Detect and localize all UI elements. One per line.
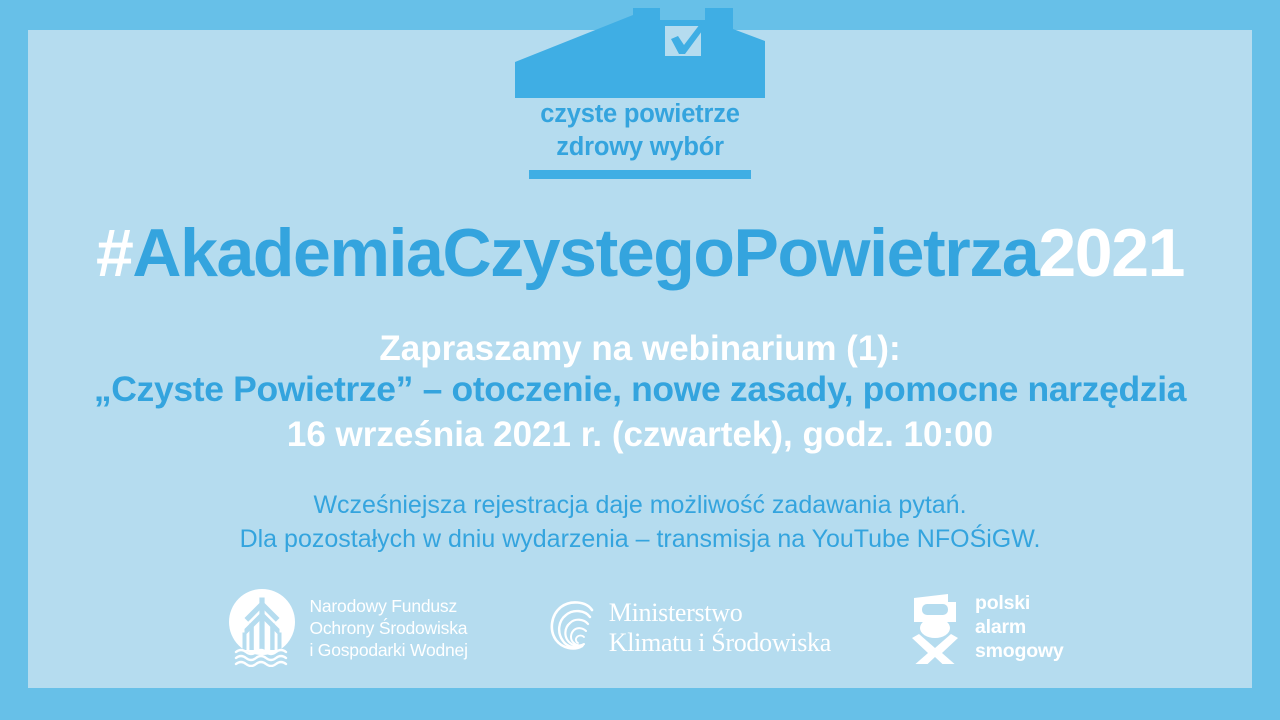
partner-nfosigw-text: Narodowy Fundusz Ochrony Środowiska i Go… (309, 595, 467, 662)
brand-logo-rule (529, 170, 751, 179)
subtitle-line-datetime: 16 września 2021 r. (czwartek), godz. 10… (0, 414, 1280, 455)
poster-canvas: czyste powietrze zdrowy wybór #AkademiaC… (0, 0, 1280, 720)
pas-line-3: smogowy (975, 640, 1064, 664)
partner-logo-ministry: Ministerstwo Klimatu i Środowiska (546, 598, 831, 658)
page-title: #AkademiaCzystegoPowietrza2021 (0, 218, 1280, 289)
subtitle-block: Zapraszamy na webinarium (1): „Czyste Po… (0, 328, 1280, 455)
brand-logo: czyste powietrze zdrowy wybór (0, 0, 1280, 175)
house-with-checkmark-icon (515, 6, 765, 98)
pas-line-2: alarm (975, 616, 1064, 640)
nfosigw-line-3: i Gospodarki Wodnej (309, 639, 467, 661)
headline-year: 2021 (1038, 215, 1184, 291)
note-line-stream: Dla pozostałych w dniu wydarzenia – tran… (0, 522, 1280, 556)
nfosigw-line-2: Ochrony Środowiska (309, 617, 467, 639)
ministry-line-2: Klimatu i Środowiska (609, 628, 831, 658)
subtitle-line-topic: „Czyste Powietrze” – otoczenie, nowe zas… (0, 369, 1280, 411)
subtitle-line-invitation: Zapraszamy na webinarium (1): (0, 328, 1280, 369)
nfosigw-line-1: Narodowy Fundusz (309, 595, 467, 617)
note-line-registration: Wcześniejsza rejestracja daje możliwość … (0, 488, 1280, 522)
partner-logos: Narodowy Fundusz Ochrony Środowiska i Go… (0, 578, 1280, 678)
partner-logo-pas: polski alarm smogowy (906, 592, 1064, 664)
smog-mask-icon (906, 592, 964, 664)
ministry-spiral-icon (546, 600, 598, 656)
partner-logo-nfosigw: Narodowy Fundusz Ochrony Środowiska i Go… (226, 589, 467, 667)
ministry-line-1: Ministerstwo (609, 598, 831, 628)
nfosigw-emblem-icon (226, 589, 298, 667)
partner-pas-text: polski alarm smogowy (975, 592, 1064, 664)
pas-line-1: polski (975, 592, 1064, 616)
brand-logo-line1: czyste powietrze (515, 98, 765, 131)
headline-blue-part: AkademiaCzystegoPowietrza (132, 215, 1038, 291)
brand-logo-line2: zdrowy wybór (515, 131, 765, 164)
headline-hash: # (96, 215, 132, 291)
note-block: Wcześniejsza rejestracja daje możliwość … (0, 488, 1280, 556)
partner-ministry-text: Ministerstwo Klimatu i Środowiska (609, 598, 831, 658)
